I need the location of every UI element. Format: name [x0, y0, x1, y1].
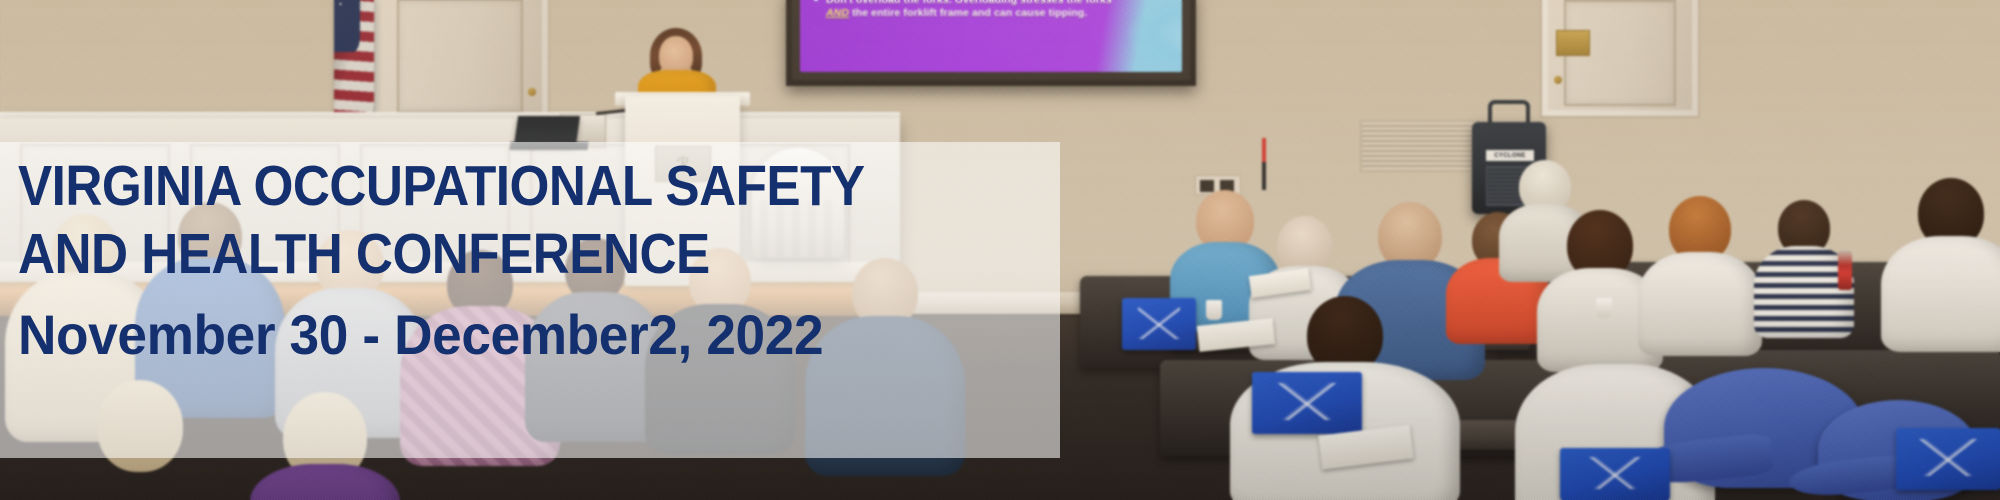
- wall-plaque: [1556, 30, 1590, 56]
- conference-tote-bag: [1252, 372, 1362, 434]
- audience-member: [1886, 178, 2000, 338]
- torso: [1881, 236, 2000, 352]
- drink-cup: [1596, 298, 1612, 318]
- door-panel: [397, 0, 524, 113]
- wall-vent: [1360, 120, 1480, 172]
- slide-text-tail: the entire forklift frame and can cause …: [849, 7, 1087, 19]
- slide-text-emphasis: AND: [826, 7, 849, 19]
- presentation-slide: Don't overload the forks. Overloading st…: [800, 0, 1182, 72]
- drink-cup: [1206, 300, 1222, 320]
- conference-dateline: November 30 - December2, 2022: [18, 304, 1025, 366]
- slide-bullet-icon: [814, 0, 818, 1]
- equipment-stand: [1262, 138, 1266, 190]
- page-title-line2: AND HEALTH CONFERENCE: [18, 220, 972, 288]
- soda-bottle: [1838, 250, 1852, 290]
- slide-text: Don't overload the forks. Overloading st…: [826, 0, 1122, 19]
- american-flag-icon: [334, 0, 374, 130]
- torso: [250, 464, 400, 500]
- conference-tote-bag: [1560, 448, 1670, 500]
- conference-tote-bag: [1896, 428, 2000, 490]
- laptop-base: [509, 142, 588, 150]
- conference-tote-bag: [1122, 298, 1196, 350]
- audience-member: [60, 380, 220, 500]
- door-knob-icon: [528, 88, 536, 96]
- slide-text-head: Don't overload the forks. Overloading st…: [826, 0, 1112, 6]
- head: [97, 380, 183, 472]
- audience-member: [250, 392, 400, 500]
- audience-member: [1640, 196, 1760, 346]
- banner-text-block: VIRGINIA OCCUPATIONAL SAFETY AND HEALTH …: [18, 152, 1078, 366]
- conference-banner: Don't overload the forks. Overloading st…: [0, 0, 2000, 500]
- page-title-line1: VIRGINIA OCCUPATIONAL SAFETY: [18, 152, 972, 220]
- door-knob-icon: [1554, 76, 1562, 84]
- door-right: [1540, 0, 1700, 118]
- door-left: [370, 0, 550, 126]
- projector-screen: Don't overload the forks. Overloading st…: [786, 0, 1196, 86]
